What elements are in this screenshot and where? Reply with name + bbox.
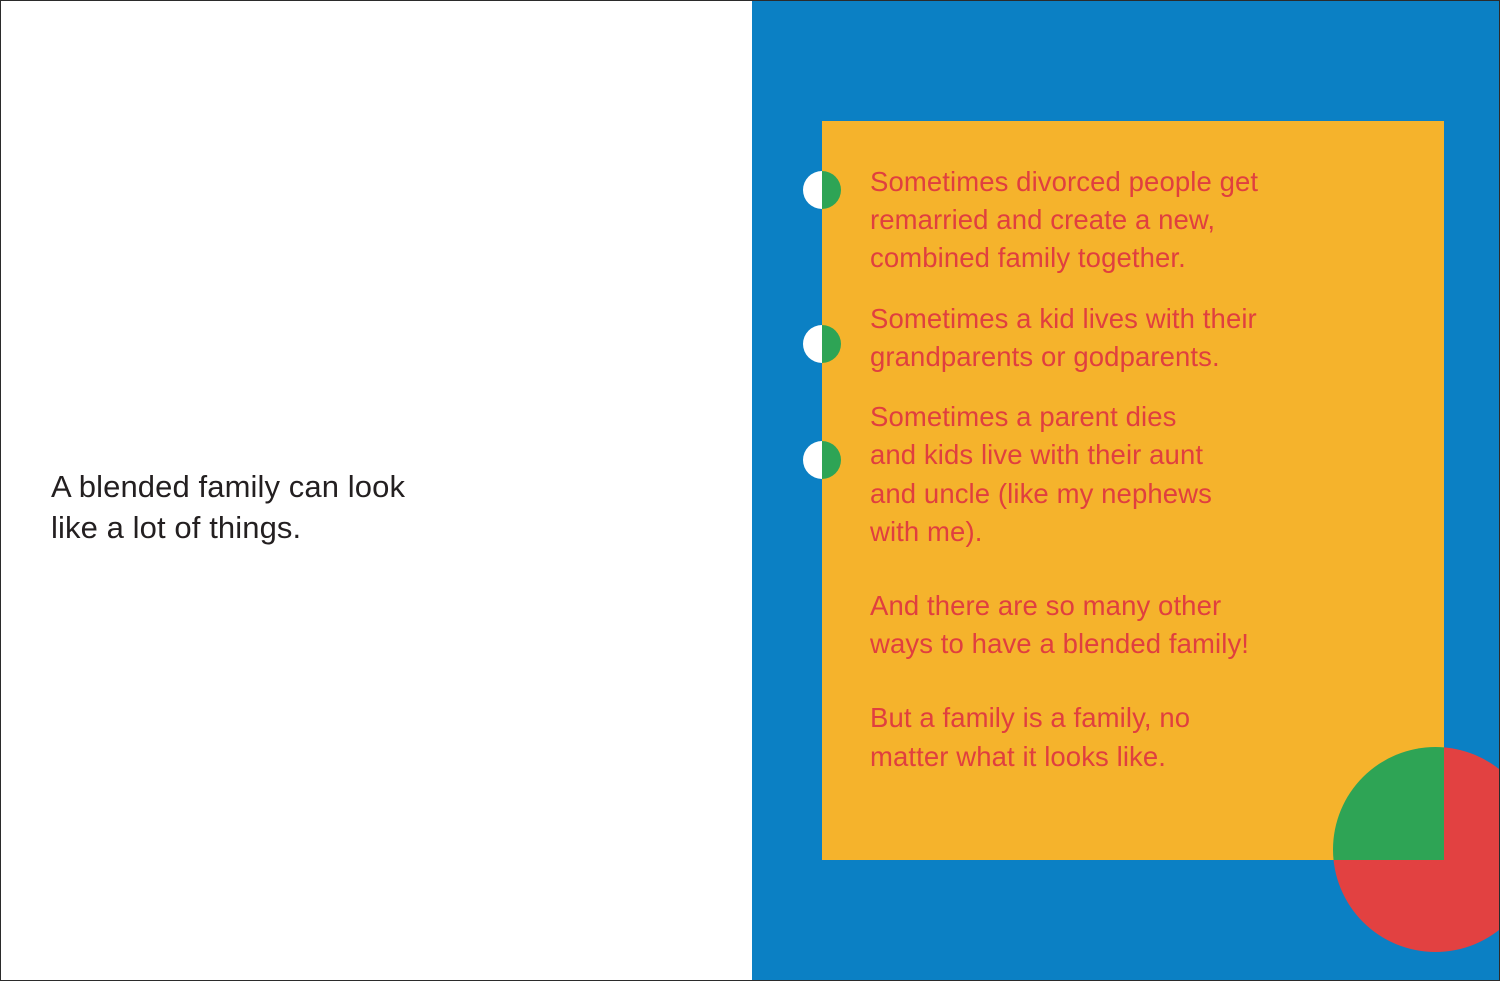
bullet-marker-icon-2 — [803, 325, 841, 363]
right-page: Sometimes divorced people get remarried … — [752, 1, 1500, 981]
content-panel-body: Sometimes divorced people get remarried … — [870, 163, 1426, 776]
bullet-marker-left-half — [803, 171, 822, 209]
left-page: A blended family can look like a lot of … — [1, 1, 752, 981]
left-page-text: A blended family can look like a lot of … — [51, 467, 671, 549]
bullet-marker-right-half — [822, 441, 841, 479]
bullet-marker-left-half — [803, 325, 822, 363]
bullet-item-text-3: Sometimes a parent dies and kids live wi… — [870, 398, 1426, 551]
paragraph-text-1: And there are so many other ways to have… — [870, 587, 1426, 663]
book-page-spread: A blended family can look like a lot of … — [0, 0, 1500, 981]
decorative-circle-green-overlap — [1333, 747, 1444, 860]
bullet-item-text-1: Sometimes divorced people get remarried … — [870, 163, 1426, 278]
bullet-marker-right-half — [822, 171, 841, 209]
bullet-marker-right-half — [822, 325, 841, 363]
bullet-marker-icon-3 — [803, 441, 841, 479]
bullet-marker-icon-1 — [803, 171, 841, 209]
bullet-marker-left-half — [803, 441, 822, 479]
bullet-item-text-2: Sometimes a kid lives with their grandpa… — [870, 300, 1426, 376]
